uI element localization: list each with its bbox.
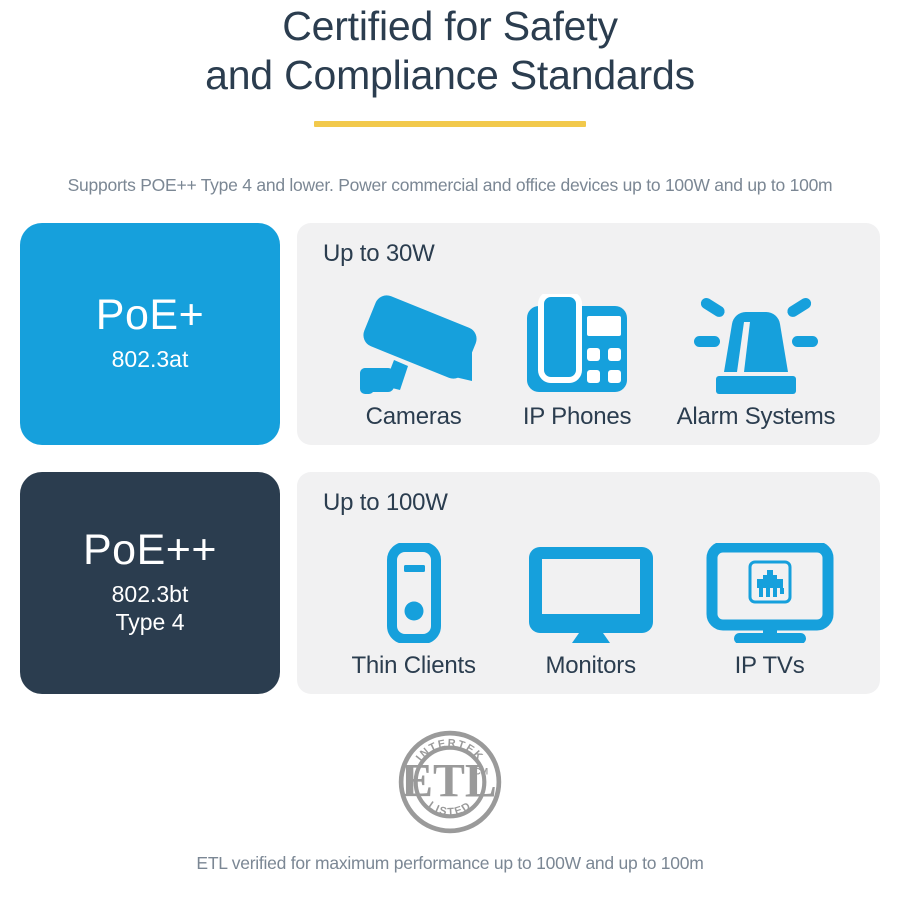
poe-plus-device-card: Up to 30W (297, 223, 880, 445)
etl-center-text: ETL (401, 755, 497, 808)
device-label: IP Phones (523, 403, 632, 431)
poe-plus-device-group: Cameras IP Phones (323, 268, 862, 431)
poe-tier-row: PoE+ 802.3at Up to 30W (20, 223, 880, 445)
device-label: Monitors (545, 652, 635, 680)
poe-plus-badge-title: PoE+ (96, 291, 204, 339)
device-label: Cameras (366, 403, 462, 431)
page-header: Certified for Safety and Compliance Stan… (0, 0, 900, 127)
device-item: Thin Clients (351, 539, 475, 680)
device-label: Alarm Systems (677, 403, 836, 431)
poe-plusplus-device-group: Thin Clients Monitors (323, 517, 862, 680)
ip-phone-icon (525, 290, 629, 394)
device-item: Monitors (525, 539, 657, 680)
page-title-line-2: and Compliance Standards (0, 51, 900, 100)
page-footer: INTERTEK LISTED ETL CM ETL verified for … (0, 730, 900, 874)
page-title-line-1: Certified for Safety (0, 2, 900, 51)
device-label: Thin Clients (351, 652, 475, 680)
subcaption-text: Supports POE++ Type 4 and lower. Power c… (0, 174, 900, 196)
device-label: IP TVs (735, 652, 805, 680)
device-item: IP TVs (706, 539, 834, 680)
title-accent-rule (314, 121, 586, 127)
poe-plusplus-device-card: Up to 100W Thin Clients (297, 472, 880, 694)
poe-plus-badge-standard: 802.3at (112, 345, 189, 373)
security-camera-icon (350, 290, 478, 394)
poe-plusplus-badge-title: PoE++ (83, 526, 217, 574)
poe-plusplus-badge: PoE++ 802.3bt Type 4 (20, 472, 280, 694)
etl-superscript-text: CM (474, 767, 488, 777)
poe-plus-power-heading: Up to 30W (323, 240, 862, 268)
device-item: Cameras (350, 290, 478, 431)
footer-note-text: ETL verified for maximum performance up … (0, 852, 900, 874)
alarm-beacon-icon (686, 290, 826, 394)
poe-tier-row: PoE++ 802.3bt Type 4 Up to 100W Thin Cli… (20, 472, 880, 694)
monitor-icon (525, 539, 657, 643)
poe-plusplus-power-heading: Up to 100W (323, 489, 862, 517)
device-item: IP Phones (523, 290, 632, 431)
device-item: Alarm Systems (677, 290, 836, 431)
poe-plusplus-badge-standard: 802.3bt Type 4 (112, 580, 189, 636)
poe-tier-list: PoE+ 802.3at Up to 30W (0, 223, 900, 694)
thin-client-icon (387, 539, 441, 643)
poe-plus-badge: PoE+ 802.3at (20, 223, 280, 445)
etl-listed-intertek-logo: INTERTEK LISTED ETL CM (398, 730, 502, 834)
ip-tv-icon (706, 539, 834, 643)
